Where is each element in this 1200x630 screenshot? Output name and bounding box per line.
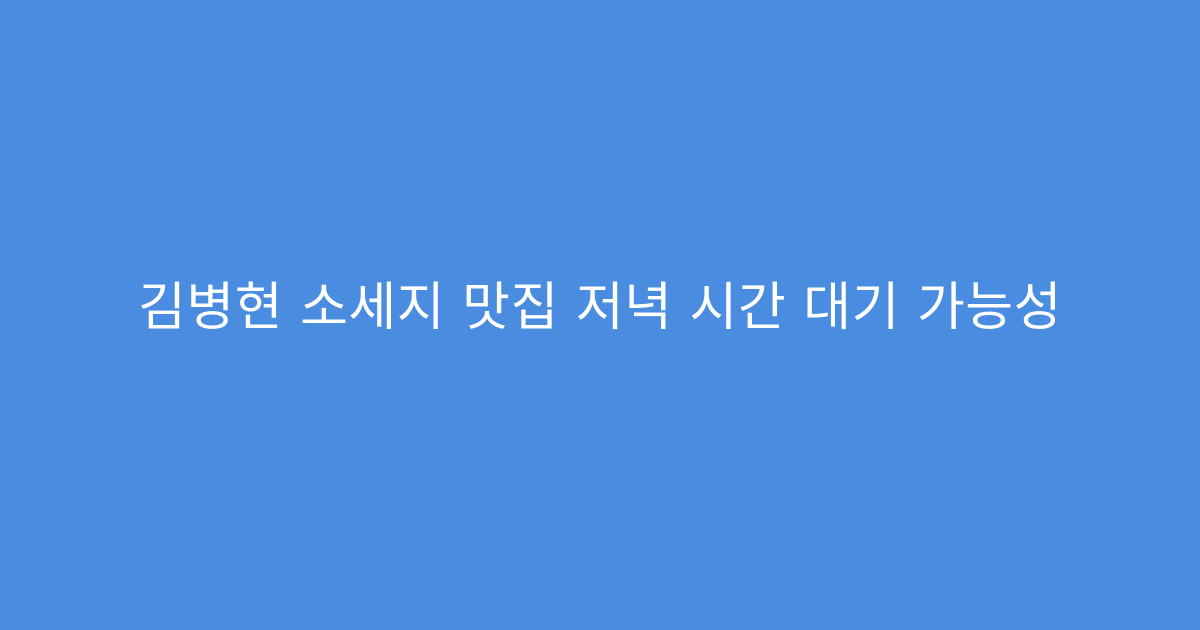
social-share-card: 김병현 소세지 맛집 저녁 시간 대기 가능성 <box>0 0 1200 630</box>
card-content-wrapper: 김병현 소세지 맛집 저녁 시간 대기 가능성 <box>0 276 1200 340</box>
card-title: 김병현 소세지 맛집 저녁 시간 대기 가능성 <box>138 276 1062 340</box>
